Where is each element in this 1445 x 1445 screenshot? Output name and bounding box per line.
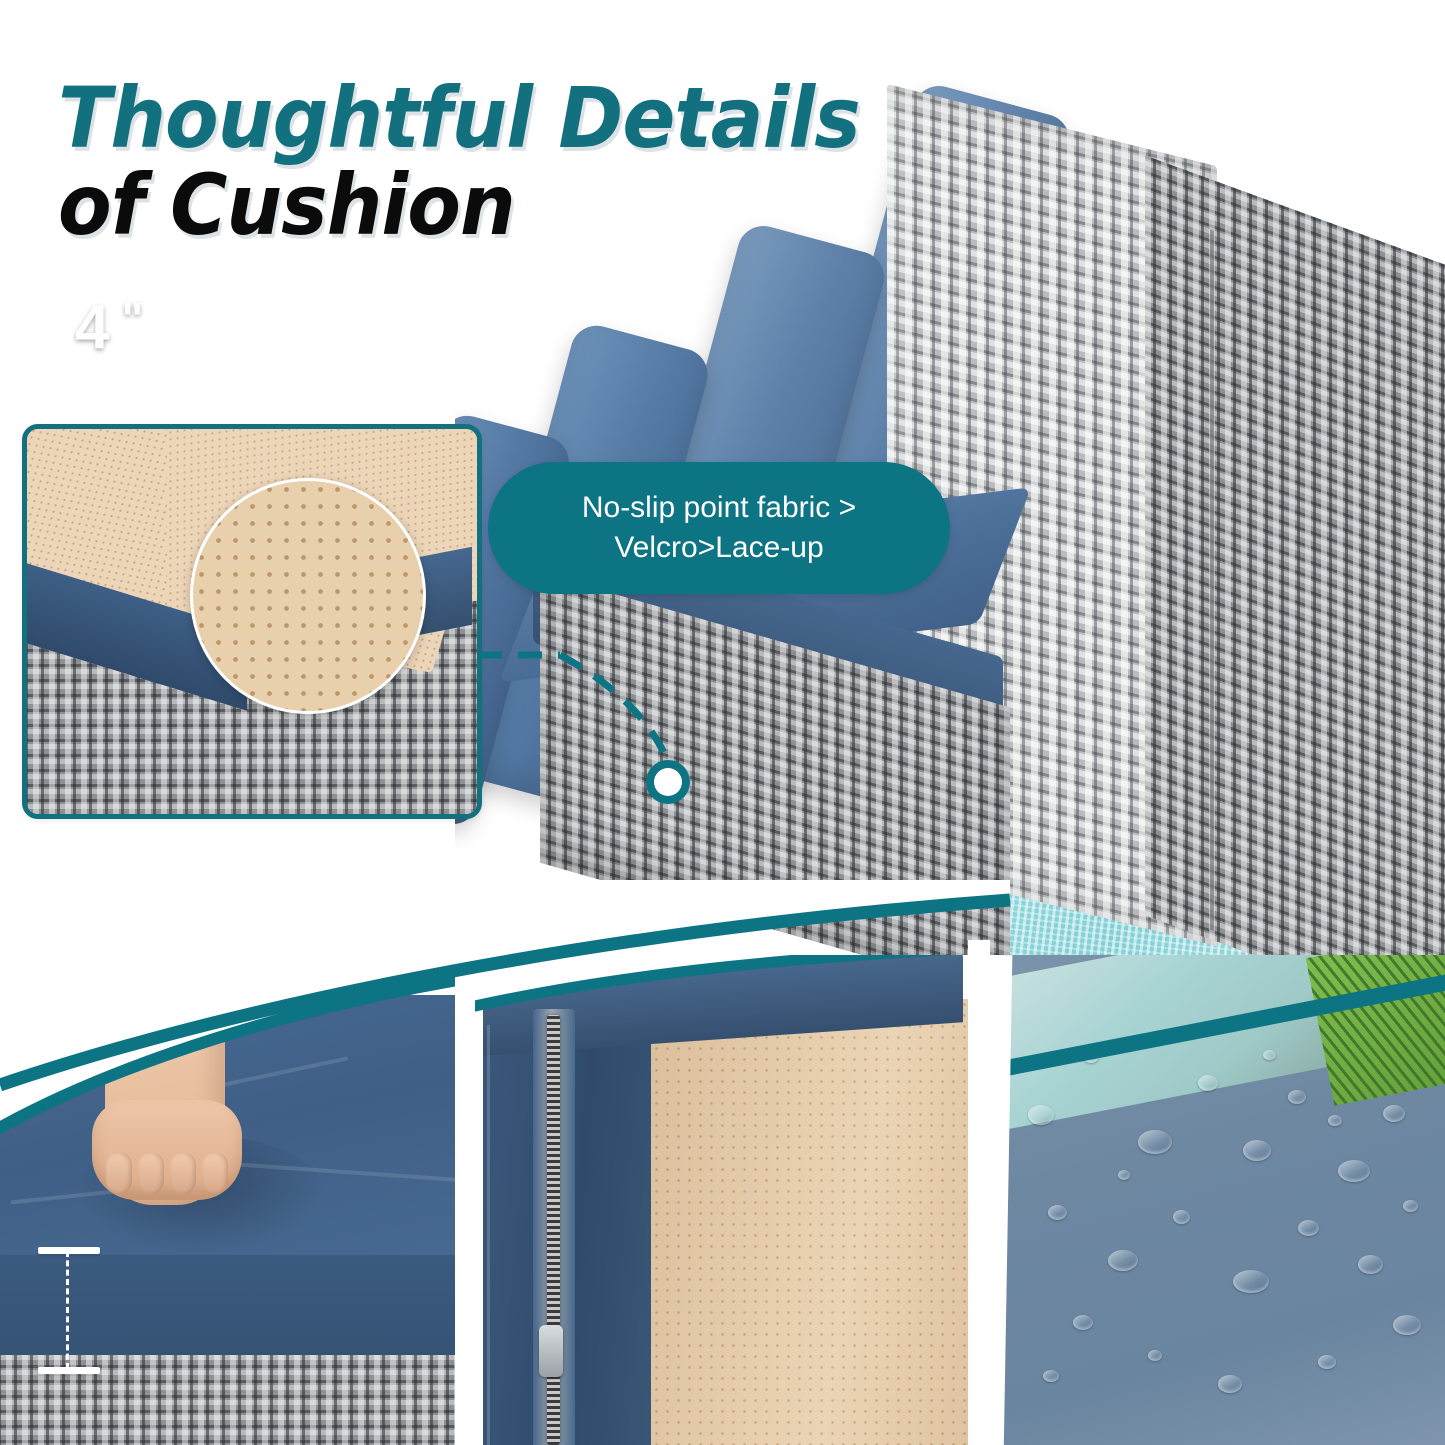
thickness-value: 4 xyxy=(75,293,111,362)
noslip-line-1: No-slip point fabric > xyxy=(582,491,856,524)
noslip-callout-text: No-slip point fabric > Velcro>Lace-up xyxy=(582,488,856,567)
noslip-callout-pill: No-slip point fabric > Velcro>Lace-up xyxy=(488,462,950,594)
panel-detachable-washable xyxy=(473,955,971,1445)
seam-line xyxy=(487,1025,490,1445)
thickness-unit: " xyxy=(121,293,145,345)
panel-top-curve xyxy=(473,955,971,1061)
noslip-line-2: Velcro>Lace-up xyxy=(614,531,823,564)
zipper-pull-icon xyxy=(539,1325,563,1377)
infographic-canvas: Thoughtful Details of Cushion No-slip po… xyxy=(0,0,1445,1445)
dimension-line xyxy=(66,1251,69,1369)
cushion-thickness-label: 4" xyxy=(75,292,145,363)
panel-strong-support xyxy=(0,955,455,1445)
page-title: Thoughtful Details of Cushion xyxy=(58,78,1018,245)
panel-gap-1 xyxy=(455,940,475,1445)
sofa-arm-side xyxy=(1145,155,1445,995)
title-line-2: of Cushion xyxy=(58,165,951,246)
panel-splash-proof xyxy=(988,955,1445,1445)
title-line-1: Thoughtful Details xyxy=(58,78,951,159)
dimension-tick-top xyxy=(38,1247,100,1254)
arm-seam xyxy=(1210,229,1214,930)
panel-gap-2 xyxy=(968,940,990,1445)
magnifier-lens-icon xyxy=(190,478,426,714)
dimension-tick-bottom xyxy=(38,1367,100,1374)
panel-top-curve xyxy=(0,955,455,1155)
zipper-teeth-icon xyxy=(547,1015,560,1445)
backing-shading xyxy=(651,999,971,1445)
